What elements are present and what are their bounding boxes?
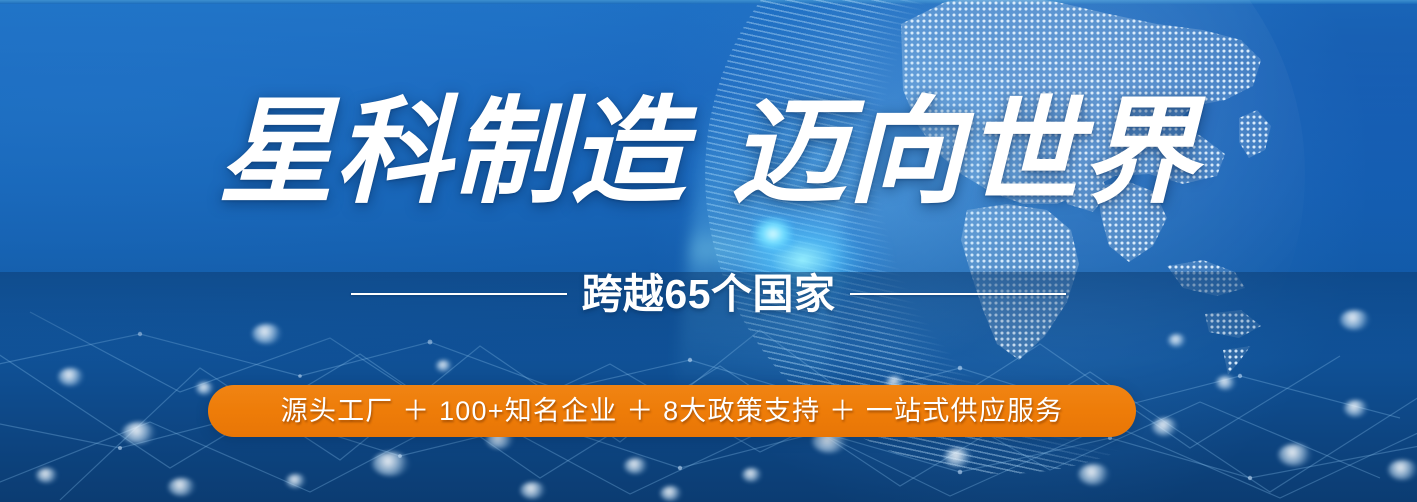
headline: 星科制造迈向世界 [0,96,1417,212]
subtitle-row: 跨越65个国家 [0,266,1417,322]
headline-part-1: 星科制造 [218,90,687,218]
promo-banner: 星科制造迈向世界 跨越65个国家 源头工厂 ＋ 100+知名企业 ＋ 8大政策支… [0,0,1417,502]
subtitle-text: 跨越65个国家 [581,274,835,315]
headline-part-2: 迈向世界 [731,90,1200,218]
rule-left-divider [351,293,567,296]
banner-content: 星科制造迈向世界 跨越65个国家 源头工厂 ＋ 100+知名企业 ＋ 8大政策支… [0,0,1417,502]
benefits-pill-label: 源头工厂 ＋ 100+知名企业 ＋ 8大政策支持 ＋ 一站式供应服务 [281,398,1064,425]
rule-right-divider [850,293,1066,296]
benefits-pill-button[interactable]: 源头工厂 ＋ 100+知名企业 ＋ 8大政策支持 ＋ 一站式供应服务 [208,385,1136,437]
